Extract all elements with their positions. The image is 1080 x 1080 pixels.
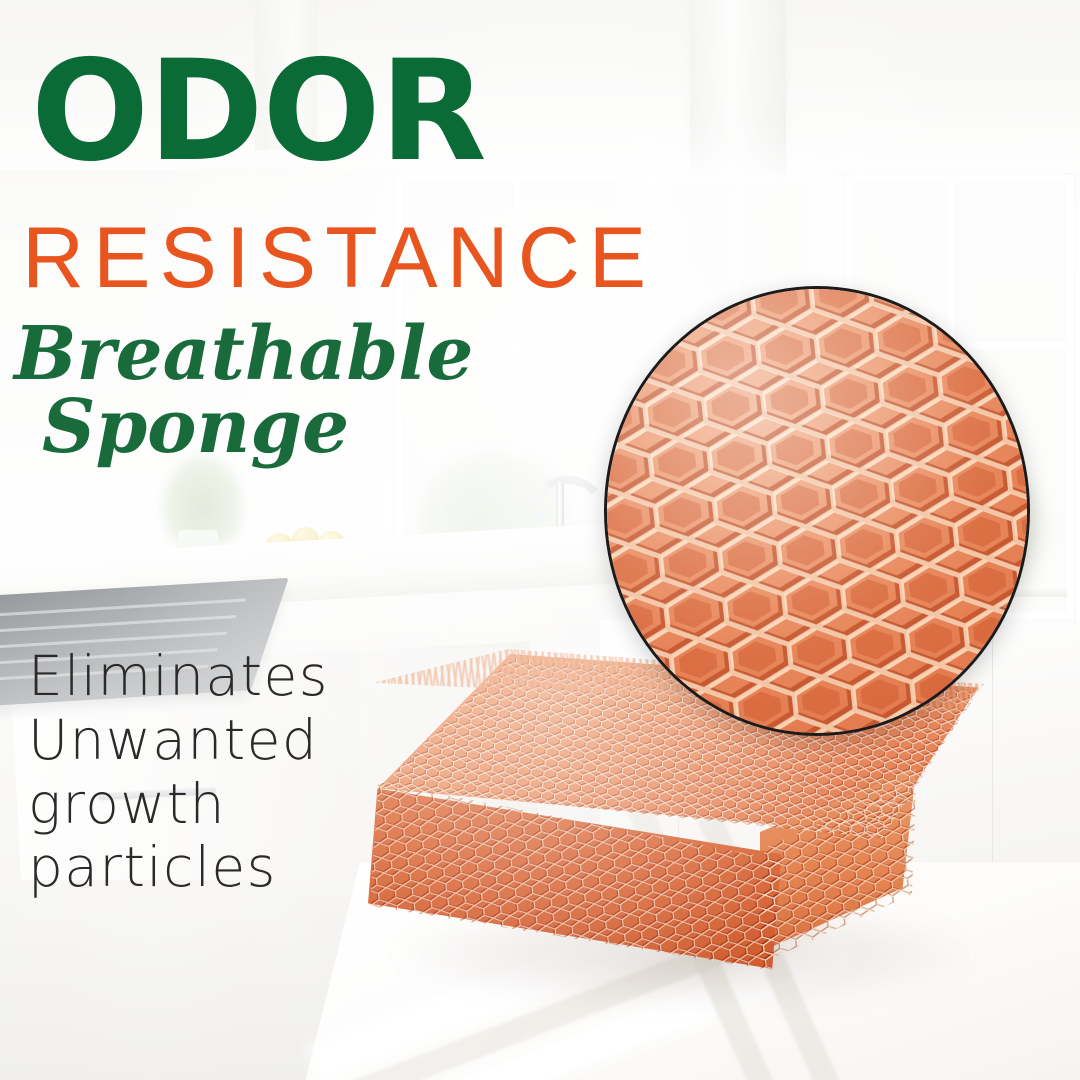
script-line-sponge: Sponge <box>42 391 473 464</box>
product-marketing-poster: ODOR RESISTANCE Breathable Sponge Elimin… <box>0 0 1080 1080</box>
ceiling-beam <box>690 0 786 185</box>
sponge-macro-closeup-circle <box>604 286 1030 736</box>
closeup-mesh-highlight <box>604 286 1030 736</box>
benefit-line-4: particles <box>28 836 329 900</box>
script-subtitle: Breathable Sponge <box>14 318 473 465</box>
headline-odor: ODOR <box>31 42 486 181</box>
benefit-line-2: Unwanted <box>28 709 329 773</box>
benefit-line-1: Eliminates <box>28 645 329 709</box>
benefit-text-block: Eliminates Unwanted growth particles <box>28 645 329 900</box>
headline-resistance: RESISTANCE <box>22 215 655 301</box>
benefit-line-3: growth <box>28 773 329 837</box>
